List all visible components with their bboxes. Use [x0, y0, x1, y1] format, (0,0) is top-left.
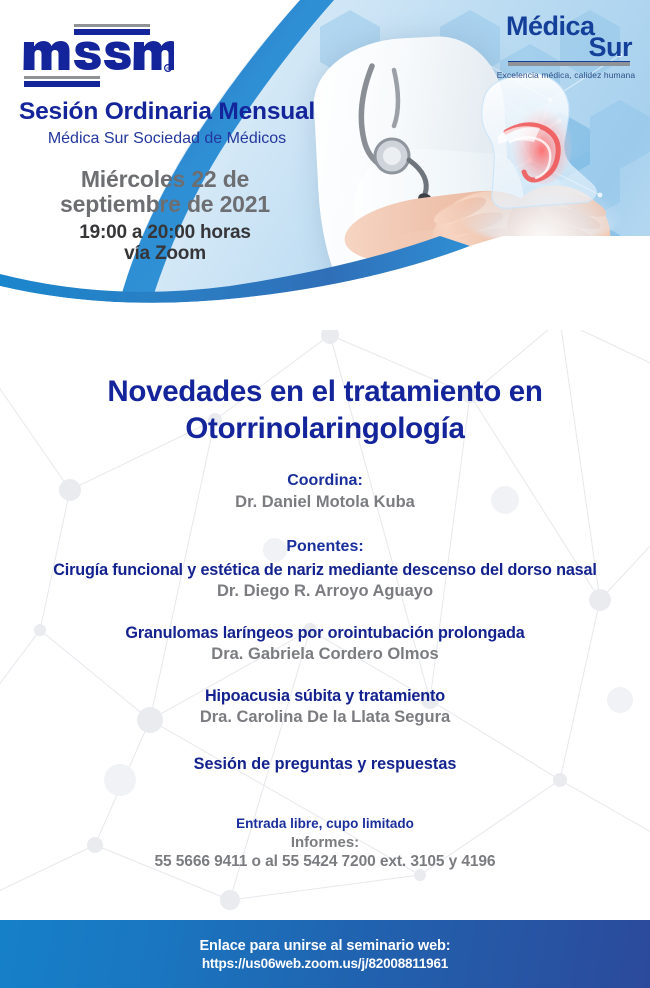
session-title: Sesión Ordinaria Mensual — [0, 98, 334, 126]
speakers-label: Ponentes: — [0, 538, 650, 556]
poster-body: Novedades en el tratamiento en Otorrinol… — [0, 330, 650, 920]
page-title-line1: Novedades en el tratamiento en — [0, 374, 650, 411]
talk-item: Granulomas laríngeos por orointubación p… — [0, 624, 650, 664]
talk-item: Cirugía funcional y estética de nariz me… — [0, 561, 650, 601]
webinar-link-url[interactable]: https://us06web.zoom.us/j/82008811961 — [202, 956, 448, 971]
coordinator-label: Coordina: — [0, 472, 650, 490]
talk-title: Granulomas laríngeos por orointubación p… — [0, 624, 650, 643]
session-date-line2: septiembre de 2021 — [0, 192, 330, 217]
talk-speaker: Dr. Diego R. Arroyo Aguayo — [0, 582, 650, 601]
poster-header: R Médica Sur Excelencia médica, calidez … — [0, 0, 650, 330]
session-time-line1: 19:00 a 20:00 horas — [0, 222, 330, 243]
talk-title: Cirugía funcional y estética de nariz me… — [0, 561, 650, 580]
poster-root: R Médica Sur Excelencia médica, calidez … — [0, 0, 650, 988]
webinar-link-label: Enlace para unirse al seminario web: — [199, 938, 450, 954]
mssm-logo: R — [22, 24, 174, 88]
informes-label: Informes: — [0, 834, 650, 851]
medica-sur-logo: Médica Sur Excelencia médica, calidez hu… — [496, 14, 636, 76]
footer-bar: Enlace para unirse al seminario web: htt… — [0, 920, 650, 988]
talk-speaker: Dra. Carolina De la Llata Segura — [0, 708, 650, 727]
session-time-line2: vía Zoom — [0, 243, 330, 264]
session-date-line1: Miércoles 22 de — [0, 167, 330, 192]
talk-title: Hipoacusia súbita y tratamiento — [0, 687, 650, 706]
qa-session-title: Sesión de preguntas y respuestas — [0, 755, 650, 774]
page-title-line2: Otorrinolaringología — [0, 411, 650, 448]
session-time: 19:00 a 20:00 horas vía Zoom — [0, 222, 330, 265]
talk-speaker: Dra. Gabriela Cordero Olmos — [0, 645, 650, 664]
talk-item: Hipoacusia súbita y tratamiento Dra. Car… — [0, 687, 650, 727]
session-subtitle: Médica Sur Sociedad de Médicos — [0, 130, 334, 148]
entrance-note: Entrada libre, cupo limitado — [0, 816, 650, 831]
page-title: Novedades en el tratamiento en Otorrinol… — [0, 374, 650, 447]
medica-sur-tagline: Excelencia médica, calidez humana — [496, 70, 636, 80]
session-date: Miércoles 22 de septiembre de 2021 — [0, 167, 330, 217]
coordinator-name: Dr. Daniel Motola Kuba — [0, 493, 650, 512]
svg-text:R: R — [166, 66, 169, 71]
informes-phone-numbers: 55 5666 9411 o al 55 5424 7200 ext. 3105… — [0, 853, 650, 871]
